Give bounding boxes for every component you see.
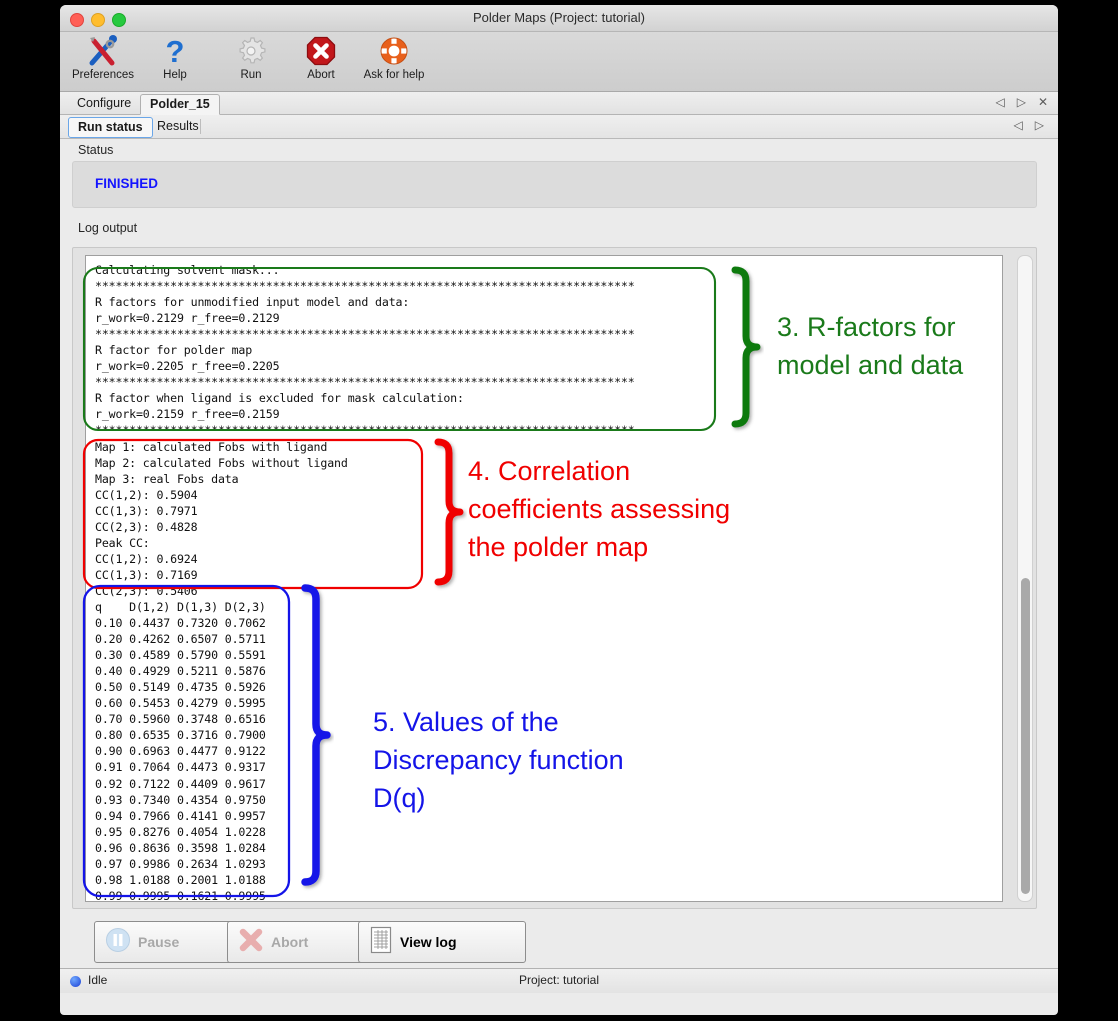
toolbar-run-label: Run	[215, 69, 287, 81]
status-section-label: Status	[78, 143, 113, 157]
inner-tab-bar: Run status Results ◁ ▷	[60, 115, 1058, 139]
toolbar-help-button[interactable]: ? Help	[139, 34, 211, 81]
control-button-row: Pause Abort	[72, 921, 1035, 961]
toolbar-help-label: Help	[139, 69, 211, 81]
status-bar: Idle Project: tutorial	[60, 968, 1058, 993]
annotation-label-5: 5. Values of theDiscrepancy functionD(q)	[373, 703, 624, 817]
inner-tab-nav: ◁ ▷	[1014, 118, 1044, 132]
annotation-label-4: 4. Correlationcoefficients assessingthe …	[468, 452, 730, 566]
life-ring-icon	[358, 34, 430, 68]
status-box: FINISHED	[72, 161, 1037, 208]
log-scrollbar-thumb[interactable]	[1021, 578, 1030, 894]
x-cross-icon	[238, 927, 264, 958]
pause-button-label: Pause	[138, 934, 179, 950]
document-grid-icon	[369, 926, 393, 959]
outer-tab-close-icon[interactable]: ✕	[1038, 95, 1048, 109]
view-log-button[interactable]: View log	[358, 921, 526, 963]
tab-polder-15[interactable]: Polder_15	[140, 94, 220, 115]
pause-button[interactable]: Pause	[94, 921, 238, 963]
window-title: Polder Maps (Project: tutorial)	[60, 10, 1058, 25]
inner-tab-next-icon[interactable]: ▷	[1035, 118, 1044, 132]
outer-tab-nav: ◁ ▷ ✕	[995, 95, 1048, 109]
svg-text:?: ?	[166, 35, 185, 67]
title-bar: Polder Maps (Project: tutorial)	[60, 5, 1058, 32]
toolbar-ask-for-help-label: Ask for help	[358, 69, 430, 81]
tab-run-status[interactable]: Run status	[68, 117, 153, 138]
toolbar-abort-label: Abort	[285, 69, 357, 81]
question-mark-icon: ?	[139, 34, 211, 68]
preferences-tools-icon	[67, 34, 139, 68]
toolbar-preferences-button[interactable]: Preferences	[67, 34, 139, 81]
abort-button[interactable]: Abort	[227, 921, 369, 963]
log-vertical-scrollbar[interactable]	[1017, 255, 1033, 902]
inner-tab-prev-icon[interactable]: ◁	[1014, 118, 1023, 132]
status-bar-project: Project: tutorial	[60, 973, 1058, 987]
gear-icon	[215, 34, 287, 68]
toolbar-abort-button[interactable]: Abort	[285, 34, 357, 81]
toolbar-ask-for-help-button[interactable]: Ask for help	[358, 34, 430, 81]
tab-results[interactable]: Results	[148, 117, 208, 136]
log-output-section-label: Log output	[78, 221, 137, 235]
toolbar-run-button[interactable]: Run	[215, 34, 287, 81]
view-log-button-label: View log	[400, 934, 457, 950]
outer-tab-bar: Configure Polder_15 ◁ ▷ ✕	[60, 92, 1058, 115]
pause-circle-icon	[105, 927, 131, 958]
stop-octagon-x-icon	[285, 34, 357, 68]
tab-configure[interactable]: Configure	[68, 94, 140, 113]
outer-tab-prev-icon[interactable]: ◁	[995, 95, 1004, 109]
toolbar: Preferences ? Help Run	[60, 32, 1058, 92]
status-badge: FINISHED	[95, 176, 158, 191]
abort-button-label: Abort	[271, 934, 308, 950]
outer-tab-next-icon[interactable]: ▷	[1017, 95, 1026, 109]
annotation-label-3: 3. R-factors formodel and data	[777, 308, 963, 384]
toolbar-preferences-label: Preferences	[67, 69, 139, 81]
